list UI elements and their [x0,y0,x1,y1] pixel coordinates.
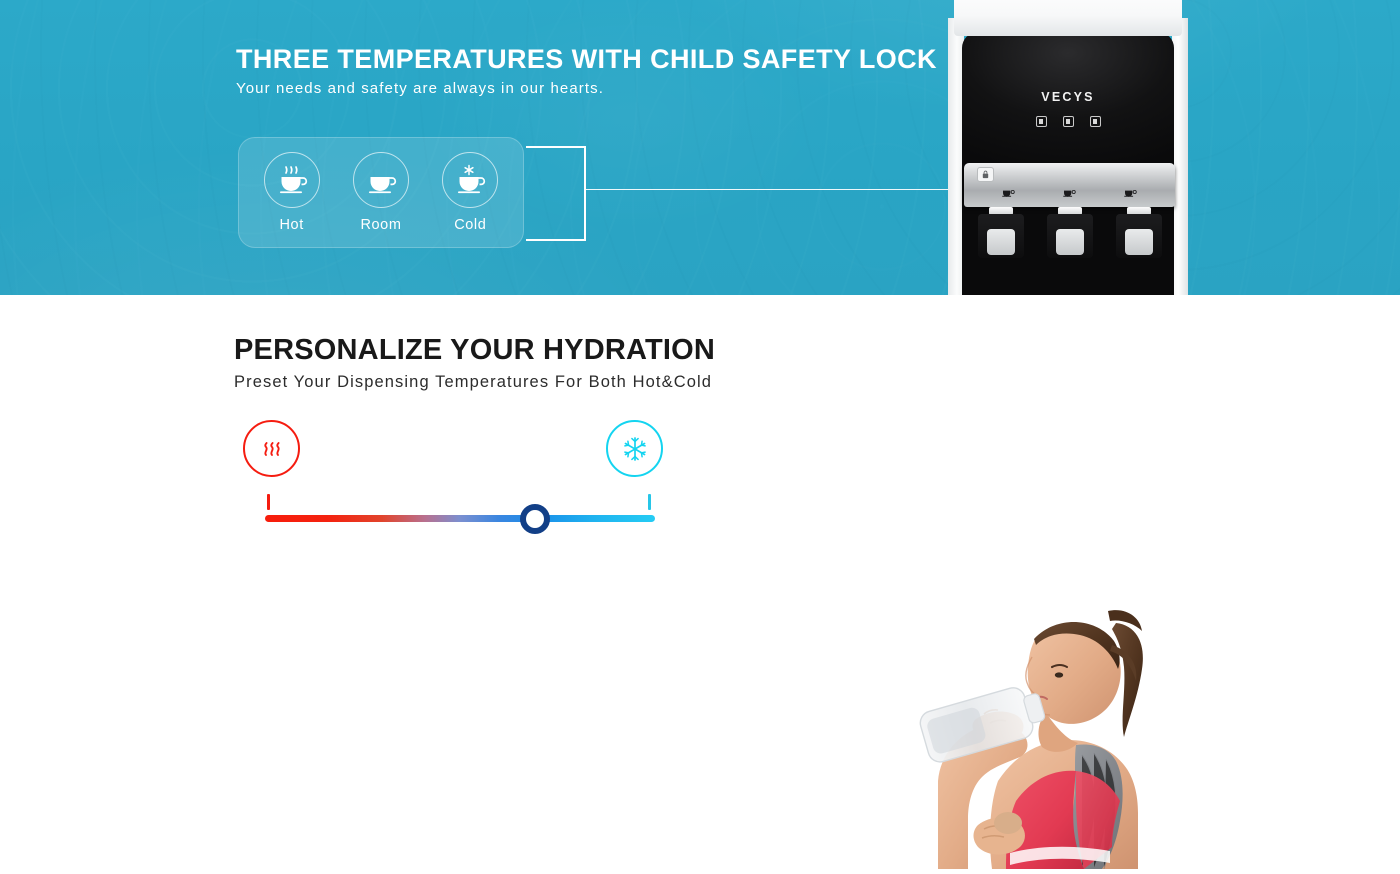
temperature-options-panel: Hot Room [238,137,524,248]
spout-press-pad[interactable] [1056,229,1084,255]
control-cup-icon-hot[interactable] [1001,186,1017,198]
dispenser-top-cover [954,0,1182,36]
spout-press-pad[interactable] [987,229,1015,255]
dispenser-brand-logo: VECYS [962,90,1174,104]
room-cup-icon [353,152,409,208]
temperature-label-room: Room [360,217,401,233]
indicator-icon-cold [1090,116,1101,127]
slider-tick-max [648,494,651,510]
heat-waves-icon [243,420,300,477]
temperature-label-hot: Hot [279,217,303,233]
temperature-slider[interactable] [243,420,663,530]
slider-tick-min [267,494,270,510]
temperature-label-cold: Cold [454,217,486,233]
slider-thumb[interactable] [520,504,550,534]
child-lock-icon[interactable] [977,167,994,182]
spout-body [978,214,1024,258]
indicator-icon-room [1063,116,1074,127]
section-three-temperatures: THREE TEMPERATURES WITH CHILD SAFETY LOC… [0,0,1400,295]
spout-body [1047,214,1093,258]
temperature-option-cold[interactable]: Cold [430,152,510,233]
cold-cup-icon [442,152,498,208]
dispenser-control-bar [964,163,1175,207]
section-two-title: PERSONALIZE YOUR HYDRATION [234,334,715,367]
snowflake-icon [606,420,663,477]
control-cup-icon-cold[interactable] [1123,186,1139,198]
dispenser-indicator-row [962,116,1174,127]
page-subtitle: Your needs and safety are always in our … [236,80,604,97]
water-dispenser-image: VECYS [948,0,1188,295]
lifestyle-photo-woman-drinking [880,595,1180,869]
page-title: THREE TEMPERATURES WITH CHILD SAFETY LOC… [236,44,937,75]
callout-bracket [526,146,586,241]
control-cup-icon-room[interactable] [1062,186,1078,198]
hot-cup-icon [264,152,320,208]
spout-room[interactable] [1047,207,1093,265]
dispenser-spouts [964,207,1175,267]
spout-hot[interactable] [978,207,1024,265]
slider-track[interactable] [265,515,655,522]
callout-line [586,189,975,190]
section-two-subtitle: Preset Your Dispensing Temperatures For … [234,373,712,392]
temperature-option-room[interactable]: Room [341,152,421,233]
product-feature-page: THREE TEMPERATURES WITH CHILD SAFETY LOC… [0,0,1400,574]
section-personalize-hydration: PERSONALIZE YOUR HYDRATION Preset Your D… [0,295,1400,574]
temperature-option-hot[interactable]: Hot [252,152,332,233]
spout-body [1116,214,1162,258]
control-bar-buttons [964,186,1175,198]
indicator-icon-hot [1036,116,1047,127]
spout-press-pad[interactable] [1125,229,1153,255]
spout-cold[interactable] [1116,207,1162,265]
